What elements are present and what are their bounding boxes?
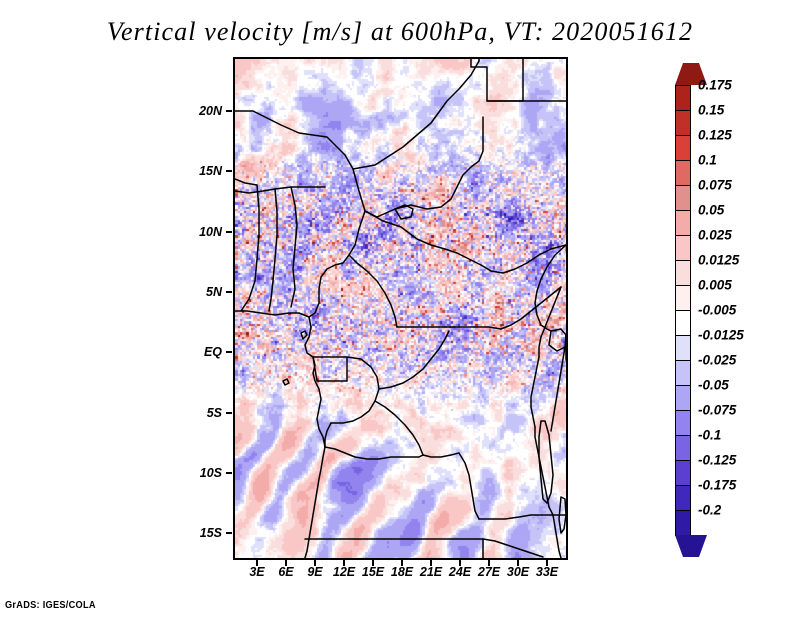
page-title: Vertical velocity [m/s] at 600hPa, VT: 2… — [0, 17, 800, 47]
colorbar-band — [675, 185, 691, 211]
colorbar-band — [675, 335, 691, 361]
border-benin-nigeria-west — [291, 187, 297, 307]
footer-credit: GrADS: IGES/COLA — [5, 600, 96, 611]
border-drc-angola-north — [423, 453, 459, 457]
colorbar-tick-label: 0.125 — [698, 128, 732, 143]
colorbar-tick-label: 0.005 — [698, 278, 732, 293]
border-togo-benin — [269, 189, 277, 311]
border-gabon-coast — [325, 423, 331, 447]
colorbar-tick-label: -0.175 — [698, 478, 736, 493]
colorbar-tick-label: -0.0125 — [698, 328, 744, 343]
y-axis-tick — [226, 170, 232, 172]
border-libya-chad-egypt — [471, 59, 523, 101]
border-equatorial-guinea — [313, 357, 347, 381]
colorbar-tick-label: 0.1 — [698, 153, 717, 168]
colorbar-band — [675, 460, 691, 486]
x-axis-label-21E: 21E — [420, 565, 442, 579]
border-congo-drc-south — [375, 401, 423, 455]
x-axis-tick — [517, 560, 519, 566]
y-axis-tick — [226, 110, 232, 112]
border-nigeria-cameroon — [309, 211, 365, 317]
colorbar-tick-label: -0.005 — [698, 303, 736, 318]
island-sao-tome — [283, 379, 289, 385]
border-zambia-zimbabwe — [483, 539, 543, 557]
colorbar-tick-label: -0.025 — [698, 353, 736, 368]
border-gabon-congo — [331, 357, 379, 423]
y-axis-label-5N: 5N — [206, 285, 222, 299]
border-car-congo-drc — [397, 327, 501, 329]
x-axis-label-33E: 33E — [536, 565, 558, 579]
island-bioko — [301, 331, 307, 339]
border-ghana-togo — [241, 185, 259, 311]
border-burkina-ghana — [235, 179, 257, 185]
x-axis-tick — [488, 560, 490, 566]
colorbar-band — [675, 285, 691, 311]
border-drc-rwanda-burundi — [531, 357, 539, 427]
y-axis-label-10S: 10S — [200, 466, 222, 480]
x-axis-tick — [401, 560, 403, 566]
y-axis-tick — [226, 351, 232, 353]
border-tanzania-kenya — [551, 347, 565, 431]
border-angola-drc-east — [459, 453, 479, 519]
x-axis-tick — [459, 560, 461, 566]
map-plot-area — [233, 57, 568, 560]
x-axis-tick — [546, 560, 548, 566]
grads-plot-page: Vertical velocity [m/s] at 600hPa, VT: 2… — [0, 0, 800, 618]
x-axis-tick — [285, 560, 287, 566]
coastline-angola — [305, 447, 325, 558]
colorbar-tick-label: 0.15 — [698, 103, 724, 118]
border-cameroon-car — [349, 255, 397, 327]
colorbar-tick-label: -0.05 — [698, 378, 729, 393]
colorbar-band — [675, 135, 691, 161]
x-axis-label-12E: 12E — [333, 565, 355, 579]
x-axis-label-6E: 6E — [278, 565, 293, 579]
border-congo-drc-north — [379, 331, 449, 389]
y-axis-label-15S: 15S — [200, 526, 222, 540]
colorbar-band — [675, 385, 691, 411]
x-axis-label-18E: 18E — [391, 565, 413, 579]
colorbar-band — [675, 210, 691, 236]
y-axis-label-20N: 20N — [199, 104, 222, 118]
colorbar-tick-label: -0.125 — [698, 453, 736, 468]
colorbar-under-arrow — [675, 535, 707, 557]
x-axis-label-9E: 9E — [307, 565, 322, 579]
border-chad-car-north — [365, 211, 491, 271]
colorbar-tick-label: 0.175 — [698, 78, 732, 93]
y-axis-label-15N: 15N — [199, 164, 222, 178]
colorbar-band — [675, 160, 691, 186]
colorbar-band — [675, 410, 691, 436]
border-niger-nigeria-chad — [353, 117, 483, 217]
y-axis-tick — [226, 532, 232, 534]
colorbar-band — [675, 235, 691, 261]
colorbar-tick-label: -0.075 — [698, 403, 736, 418]
x-axis-tick — [372, 560, 374, 566]
x-axis-label-27E: 27E — [478, 565, 500, 579]
y-axis-tick — [226, 412, 232, 414]
coastline-gulf-of-guinea — [235, 311, 325, 447]
x-axis-label-30E: 30E — [507, 565, 529, 579]
colorbar-tick-label: 0.075 — [698, 178, 732, 193]
colorbar-band — [675, 485, 691, 511]
colorbar-band — [675, 260, 691, 286]
colorbar-band — [675, 110, 691, 136]
x-axis-tick — [256, 560, 258, 566]
border-car-sudan — [491, 245, 566, 273]
x-axis-tick — [314, 560, 316, 566]
coastline-cabinda-angola — [325, 447, 423, 459]
colorbar-band — [675, 360, 691, 386]
lake-victoria — [549, 329, 566, 351]
border-niger-algeria — [353, 61, 479, 169]
colorbar-band — [675, 435, 691, 461]
border-mali-niger — [235, 111, 353, 169]
colorbar-tick-label: 0.0125 — [698, 253, 739, 268]
colorbar-tick-label: 0.025 — [698, 228, 732, 243]
x-axis-tick — [343, 560, 345, 566]
border-burkina-niger-south — [235, 187, 325, 193]
colorbar-tick-label: 0.05 — [698, 203, 724, 218]
y-axis-tick — [226, 231, 232, 233]
x-axis-tick — [430, 560, 432, 566]
border-lake-tanganyika-south — [549, 507, 553, 515]
x-axis-label-3E: 3E — [249, 565, 264, 579]
colorbar-band — [675, 85, 691, 111]
y-axis-tick — [226, 291, 232, 293]
colorbar-band — [675, 510, 691, 536]
country-borders-overlay — [235, 59, 566, 558]
y-axis-label-EQ: EQ — [204, 345, 222, 359]
colorbar-band — [675, 310, 691, 336]
colorbar — [675, 63, 691, 557]
y-axis-label-10N: 10N — [199, 225, 222, 239]
x-axis-label-24E: 24E — [449, 565, 471, 579]
colorbar-tick-label: -0.2 — [698, 503, 721, 518]
x-axis-label-15E: 15E — [362, 565, 384, 579]
y-axis-tick — [226, 472, 232, 474]
y-axis-label-5S: 5S — [207, 406, 222, 420]
colorbar-tick-label: -0.1 — [698, 428, 721, 443]
